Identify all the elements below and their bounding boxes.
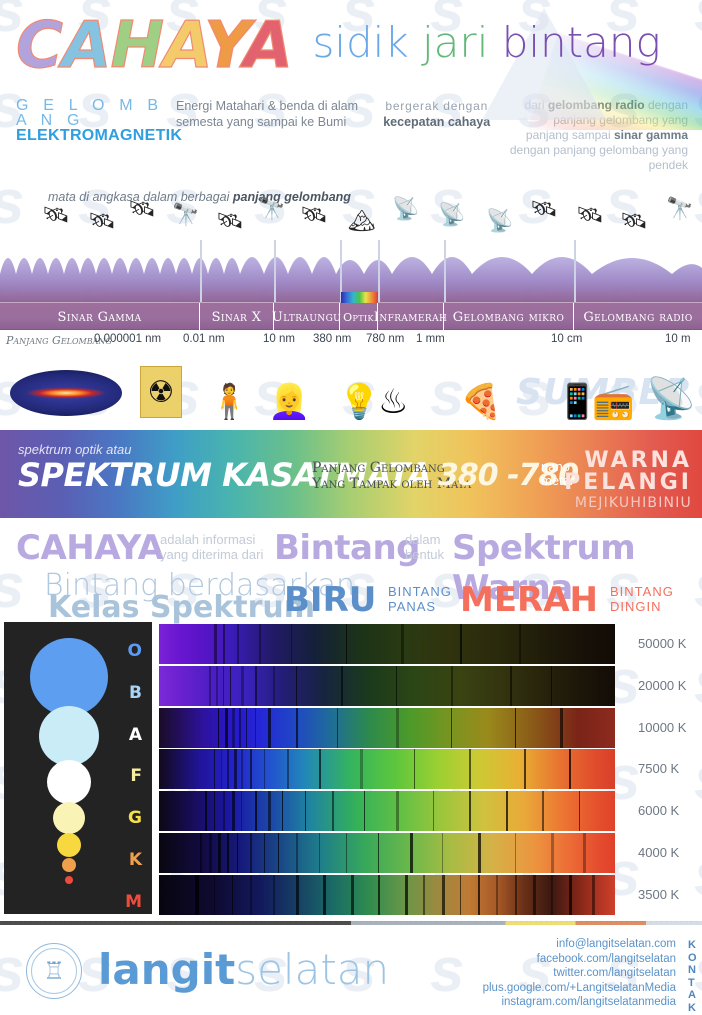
absorption-line xyxy=(223,624,226,664)
star-sizes-panel: OBAFGKM xyxy=(4,622,152,914)
wavelength-value-2: 10 nm xyxy=(263,333,295,345)
spectral-class-letter-M: M xyxy=(125,892,142,912)
stmt1-note: adalah informasi yang diterima dari xyxy=(160,532,263,562)
kontak-letter: K xyxy=(688,939,697,952)
absorption-line xyxy=(515,708,516,748)
absorption-line xyxy=(323,875,326,915)
contact-link-3[interactable]: plus.google.com/+LangitselatanMedia xyxy=(483,981,676,996)
satellite-icon: 🛰 xyxy=(42,202,70,228)
absorption-line xyxy=(264,833,265,873)
em-band-sinar-x: Sinar X xyxy=(200,303,274,331)
absorption-line xyxy=(515,833,517,873)
kontak-letter: A xyxy=(688,989,697,1002)
em-spectrum-bar: Sinar GammaSinar XUltraunguOptikInframer… xyxy=(0,302,702,330)
light-bulb-icon: 💡 xyxy=(338,382,380,422)
absorption-line xyxy=(332,791,333,831)
warna-line2: PELANGI xyxy=(564,472,692,494)
satellite-icon: 🛰 xyxy=(530,196,558,222)
visible-spectrum-banner: spektrum optik atau SPEKTRUM KASATMATA P… xyxy=(0,430,702,518)
absorption-line xyxy=(223,666,224,706)
radiation-sign: ☢ xyxy=(140,366,182,418)
stmt2-bintang-panas: BINTANG PANAS xyxy=(388,584,452,614)
absorption-line xyxy=(246,708,247,748)
absorption-line xyxy=(533,875,536,915)
stmt2-panas-line1: BINTANG xyxy=(388,584,452,599)
absorption-line xyxy=(232,791,235,831)
absorption-line xyxy=(296,833,299,873)
absorption-line xyxy=(241,749,243,789)
footer-divider xyxy=(0,921,702,925)
visible-small-text: spektrum optik atau xyxy=(18,442,431,457)
absorption-line xyxy=(364,791,365,831)
satellite-icon: 🛰 xyxy=(88,208,116,234)
heater-icon: ♨ xyxy=(378,382,408,422)
blurb-em-line1: G E L O M B A N G xyxy=(16,98,166,128)
absorption-line xyxy=(469,791,471,831)
xray-child-icon: 🧍 xyxy=(208,382,250,422)
temperature-label-F: 7500 K xyxy=(638,761,679,776)
absorption-line xyxy=(296,666,298,706)
em-band-gelombang-mikro: Gelombang mikro xyxy=(444,303,574,331)
absorption-line xyxy=(346,624,348,664)
blurb-range-p3: dengan panjang gelombang yang pendek xyxy=(510,143,688,172)
langitselatan-wordmark: langitselatan xyxy=(98,947,389,993)
spectrum-strip-O xyxy=(159,624,615,664)
absorption-line xyxy=(560,708,563,748)
star-size-circle-B xyxy=(39,706,99,766)
absorption-line xyxy=(239,708,241,748)
spectral-class-chart: OBAFGKM 50000 K20000 K10000 K7500 K6000 … xyxy=(0,616,702,921)
antenna-icon: 🏔 xyxy=(348,208,376,234)
band-tick xyxy=(574,240,576,302)
absorption-lines-overlay xyxy=(159,624,615,664)
absorption-line xyxy=(515,875,518,915)
langitselatan-seal-logo: ♖ xyxy=(26,943,82,999)
blurb-em-line2: ELEKTROMAGNETIK xyxy=(16,128,166,143)
absorption-lines-overlay xyxy=(159,875,615,915)
absorption-line xyxy=(259,624,261,664)
telescope-icon: 🔭 xyxy=(666,196,693,222)
stmt1-bentuk: dalam bentuk xyxy=(405,532,444,562)
contact-link-1[interactable]: facebook.com/langitselatan xyxy=(483,952,676,967)
spectral-class-letter-G: G xyxy=(128,808,142,828)
absorption-line xyxy=(232,875,233,915)
kontak-vertical-label: KONTAK xyxy=(688,939,697,1015)
page-subtitle: sidik jari bintang xyxy=(312,20,660,66)
em-sources-row: SUMBER ☢🧍👱‍♀️💡♨🍕📱📻📡 xyxy=(0,352,702,430)
stmt1-bintang: Bintang xyxy=(274,528,420,568)
temperature-label-A: 10000 K xyxy=(638,720,686,735)
absorption-line xyxy=(209,833,212,873)
satellite-caption-b: panjang gelombang xyxy=(233,190,351,204)
absorption-line xyxy=(551,833,554,873)
absorption-line xyxy=(278,833,279,873)
microwave-pizza-icon: 🍕 xyxy=(460,382,502,422)
absorption-line xyxy=(592,875,595,915)
spectral-class-letter-K: K xyxy=(129,850,142,870)
spectrum-strip-G xyxy=(159,791,615,831)
star-size-circle-G xyxy=(57,833,81,857)
wavelength-value-6: 10 cm xyxy=(551,333,582,345)
wavelength-value-7: 10 m xyxy=(665,333,691,345)
absorption-line xyxy=(451,708,452,748)
absorption-line xyxy=(524,749,526,789)
em-band-gelombang-radio: Gelombang radio xyxy=(574,303,702,331)
absorption-line xyxy=(305,791,306,831)
wavelength-value-5: 1 mm xyxy=(416,333,445,345)
absorption-line xyxy=(234,749,237,789)
contact-list: info@langitselatan.comfacebook.com/langi… xyxy=(483,937,676,1010)
absorption-line xyxy=(460,875,462,915)
absorption-line xyxy=(250,833,252,873)
absorption-line xyxy=(569,749,571,789)
wavelength-value-1: 0.01 nm xyxy=(183,333,225,345)
absorption-line xyxy=(273,666,275,706)
absorption-line xyxy=(255,791,257,831)
absorption-line xyxy=(241,791,242,831)
kontak-letter: N xyxy=(688,964,697,977)
stmt2-dingin-line1: BINTANG xyxy=(610,584,674,599)
absorption-line xyxy=(519,624,521,664)
page-title: CAHAYA xyxy=(16,14,292,78)
absorption-line xyxy=(209,666,211,706)
stmt2-panas-line2: PANAS xyxy=(388,599,436,614)
satellite-band: mata di angkasa dalam berbagai panjang g… xyxy=(0,178,702,240)
spectral-class-letter-A: A xyxy=(129,725,142,745)
absorption-lines-overlay xyxy=(159,833,615,873)
absorption-line xyxy=(195,875,198,915)
galaxy-ellipse xyxy=(10,370,122,416)
satellite-icon: 🛰 xyxy=(576,202,604,228)
absorption-line xyxy=(337,708,339,748)
absorption-line xyxy=(205,791,208,831)
star-size-circle-A xyxy=(47,760,91,804)
absorption-line xyxy=(478,875,480,915)
telescope-icon: 🛰 xyxy=(216,208,244,234)
dish-icon: 📡 xyxy=(392,196,419,222)
observatory-icon: 🛰 xyxy=(300,202,328,228)
radiation-hazard-icon: ☢ xyxy=(140,366,182,418)
optical-rainbow-chip xyxy=(341,292,378,303)
em-band-inframerah: Inframerah xyxy=(378,303,444,331)
absorption-line xyxy=(230,666,231,706)
telescope-icon: 🔭 xyxy=(258,196,285,222)
absorption-line xyxy=(268,708,271,748)
star-size-circle-K xyxy=(62,858,76,872)
temperature-label-G: 6000 K xyxy=(638,803,679,818)
blurb-range-b2: sinar gamma xyxy=(614,128,688,142)
absorption-lines-overlay xyxy=(159,708,615,748)
absorption-line xyxy=(569,875,572,915)
absorption-line xyxy=(341,666,343,706)
absorption-line xyxy=(378,833,379,873)
spectral-class-letter-B: B xyxy=(129,683,142,703)
absorption-line xyxy=(583,833,586,873)
temperature-label-M: 3500 K xyxy=(638,887,679,902)
star-size-circle-F xyxy=(53,802,85,834)
absorption-line xyxy=(250,749,252,789)
absorption-line xyxy=(506,791,509,831)
header: CAHAYA sidik jari bintang G E L O M B A … xyxy=(0,0,702,178)
spectrum-strip-M xyxy=(159,875,615,915)
absorption-line xyxy=(255,666,258,706)
wavelength-value-3: 380 nm xyxy=(313,333,351,345)
star-size-circle-M xyxy=(65,876,73,884)
temperature-label-B: 20000 K xyxy=(638,678,686,693)
spectral-class-letter-O: O xyxy=(128,641,142,661)
subtitle-word-1: sidik xyxy=(312,18,408,67)
wavelength-row: Panjang Gelombang 0.000001 nm0.01 nm10 n… xyxy=(0,330,702,352)
infographic-page: CAHAYA sidik jari bintang G E L O M B A … xyxy=(0,0,702,1000)
radio-icon: 📻 xyxy=(592,382,634,422)
absorption-line xyxy=(227,749,228,789)
absorption-lines-overlay xyxy=(159,749,615,789)
em-band-sinar-gamma: Sinar Gamma xyxy=(0,303,200,331)
absorption-line xyxy=(214,749,215,789)
absorption-line xyxy=(237,833,239,873)
band-tick xyxy=(444,240,446,302)
absorption-line xyxy=(396,708,399,748)
spectrum-strip-F xyxy=(159,749,615,789)
spectrum-strip-K xyxy=(159,833,615,873)
star-size-circle-O xyxy=(30,638,108,716)
stmt1-bentuk-line1: dalam xyxy=(405,532,440,547)
kontak-letter: O xyxy=(688,952,697,965)
band-tick xyxy=(378,240,380,302)
title-letter-1: A xyxy=(62,9,111,83)
absorption-line xyxy=(469,749,471,789)
statement-row-1: CAHAYA adalah informasi yang diterima da… xyxy=(0,526,702,570)
dish-icon: 📡 xyxy=(438,202,465,228)
absorption-line xyxy=(218,833,221,873)
absorption-line xyxy=(414,749,415,789)
band-tick xyxy=(274,240,276,302)
spectrum-strip-A xyxy=(159,708,615,748)
stmt1-bentuk-line2: bentuk xyxy=(405,547,444,562)
absorption-line xyxy=(273,875,275,915)
warna-line1: WARNA xyxy=(564,450,692,472)
absorption-line xyxy=(200,833,202,873)
absorption-line xyxy=(405,875,407,915)
blurb-electromagnetic: G E L O M B A N G ELEKTROMAGNETIK xyxy=(16,98,166,173)
em-band-optik: Optik xyxy=(340,303,378,331)
stmt1-cahaya: CAHAYA xyxy=(16,528,163,568)
title-letter-4: Y xyxy=(204,9,243,83)
absorption-line xyxy=(268,791,271,831)
absorption-line xyxy=(319,833,320,873)
contact-link-0[interactable]: info@langitselatan.com xyxy=(483,937,676,952)
absorption-line xyxy=(232,708,235,748)
absorption-line xyxy=(218,708,219,748)
satellite-icon: 🛰 xyxy=(620,208,648,234)
absorption-line xyxy=(451,666,453,706)
absorption-line xyxy=(214,791,215,831)
blurb-energy: Energi Matahari & benda di alam semesta … xyxy=(176,98,365,173)
absorption-line xyxy=(225,708,228,748)
absorption-line xyxy=(378,875,380,915)
absorption-line xyxy=(551,875,553,915)
galaxy-gamma-map-icon xyxy=(10,370,122,416)
visible-warna-pelangi: WARNA PELANGI MEJIKUHIBINIU xyxy=(564,450,692,512)
contact-link-2[interactable]: twitter.com/langitselatan xyxy=(483,966,676,981)
absorption-lines-overlay xyxy=(159,666,615,706)
title-letter-0: C xyxy=(16,9,62,83)
absorption-line xyxy=(241,666,244,706)
radio-tower-icon: 📡 xyxy=(646,375,696,422)
stmt1-note-line2: yang diterima dari xyxy=(160,547,263,562)
absorption-line xyxy=(360,749,363,789)
statement-row-2: Bintang berdasarkan Kelas Spektrum BIRU … xyxy=(0,570,702,616)
band-tick xyxy=(200,240,202,302)
absorption-line xyxy=(510,666,512,706)
absorption-line xyxy=(442,875,445,915)
absorption-line xyxy=(410,833,413,873)
stmt2-bintang-dingin: BINTANG DINGIN xyxy=(610,584,674,614)
uv-sun-woman-icon: 👱‍♀️ xyxy=(268,382,310,422)
logo-bold: langit xyxy=(98,945,235,994)
absorption-line xyxy=(296,875,299,915)
absorption-line xyxy=(250,875,252,915)
satellite-icon: 🛰 xyxy=(128,196,156,222)
title-row: CAHAYA sidik jari bintang xyxy=(0,0,702,96)
absorption-line xyxy=(542,791,544,831)
title-letter-3: A xyxy=(163,9,204,83)
footer: ♖ langitselatan info@langitselatan.comfa… xyxy=(0,921,702,1013)
absorption-line xyxy=(221,749,222,789)
kontak-letter: T xyxy=(688,977,697,990)
mejikuhibiniu: MEJIKUHIBINIU xyxy=(564,494,692,512)
temperature-label-O: 50000 K xyxy=(638,636,686,651)
stmt2-dingin-line2: DINGIN xyxy=(610,599,662,614)
absorption-line xyxy=(227,833,229,873)
stmt1-note-line1: adalah informasi xyxy=(160,532,255,547)
stmt2-biru: BIRU xyxy=(284,580,376,620)
absorption-line xyxy=(216,666,218,706)
absorption-line xyxy=(396,666,397,706)
dish-icon: 📡 xyxy=(486,208,513,234)
absorption-line xyxy=(401,624,404,664)
kontak-letter: K xyxy=(688,1002,697,1015)
absorption-line xyxy=(296,708,298,748)
absorption-line xyxy=(442,833,444,873)
absorption-line xyxy=(496,875,498,915)
absorption-line xyxy=(351,875,354,915)
temperature-label-K: 4000 K xyxy=(638,845,679,860)
absorption-line xyxy=(423,875,425,915)
absorption-line xyxy=(287,749,290,789)
subtitle-word-2: jari xyxy=(422,18,488,67)
absorption-line xyxy=(255,708,256,748)
absorption-line xyxy=(223,791,225,831)
absorption-line xyxy=(282,791,283,831)
em-band-ultraungu: Ultraungu xyxy=(274,303,340,331)
telescope-icon: 🔭 xyxy=(172,202,199,228)
absorption-line xyxy=(478,833,481,873)
absorption-line xyxy=(237,624,240,664)
title-letter-2: H xyxy=(111,9,164,83)
absorption-line xyxy=(396,791,399,831)
absorption-line xyxy=(579,791,580,831)
wavelength-value-4: 780 nm xyxy=(366,333,404,345)
wavelength-value-0: 0.000001 nm xyxy=(94,333,161,345)
title-letter-5: A xyxy=(243,9,292,83)
subtitle-word-3: bintang xyxy=(502,18,661,67)
absorption-line xyxy=(319,749,321,789)
absorption-line xyxy=(264,749,265,789)
stmt2-merah: MERAH xyxy=(460,580,598,620)
logo-light: selatan xyxy=(235,945,389,994)
absorption-line xyxy=(460,624,462,664)
absorption-line xyxy=(291,624,292,664)
absorption-line xyxy=(346,833,347,873)
absorption-line xyxy=(214,624,217,664)
contact-link-4[interactable]: instagram.com/langitselatanmedia xyxy=(483,995,676,1010)
spectrum-strip-B xyxy=(159,666,615,706)
absorption-lines-overlay xyxy=(159,791,615,831)
absorption-line xyxy=(551,666,552,706)
spectral-class-letter-F: F xyxy=(130,766,142,786)
absorption-line xyxy=(433,791,434,831)
absorption-line xyxy=(214,875,216,915)
